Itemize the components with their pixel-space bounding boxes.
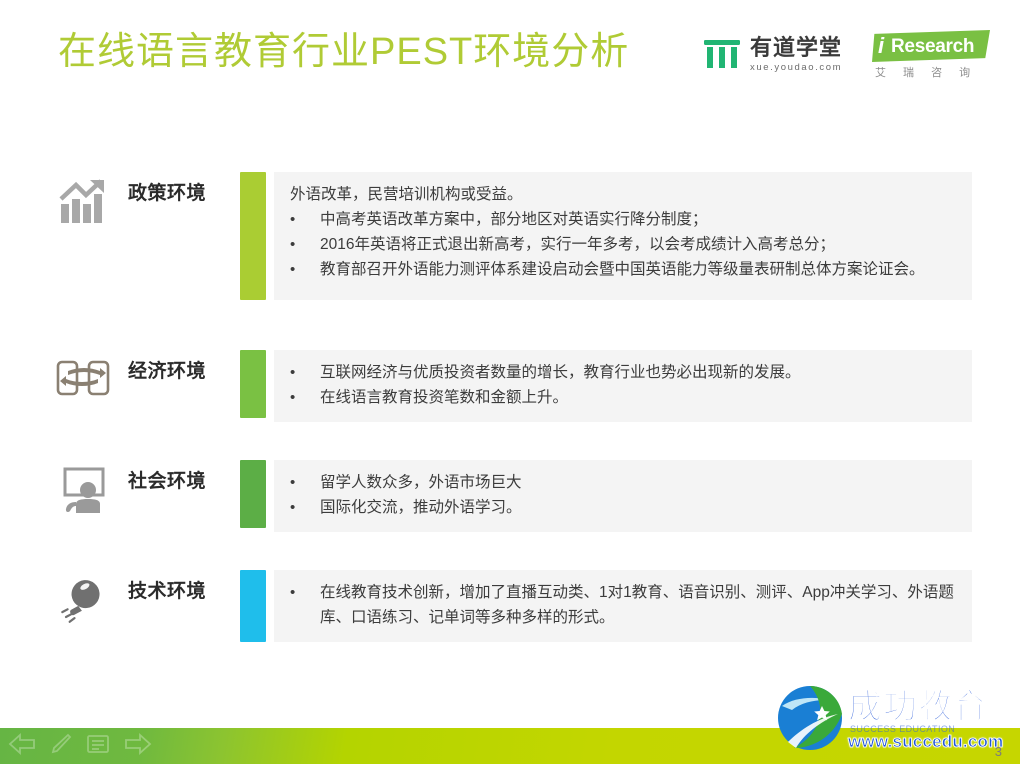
pest-panel-society: • 留学人数众多，外语市场巨大 • 国际化交流，推动外语学习。 bbox=[274, 460, 972, 532]
bullet-dot-icon: • bbox=[290, 207, 320, 232]
bullet-dot-icon: • bbox=[290, 385, 320, 410]
pest-row-label-economy: 经济环境 bbox=[114, 350, 240, 384]
pest-row-label-society: 社会环境 bbox=[114, 460, 240, 494]
pest-row-technology: 技术环境 • 在线教育技术创新，增加了直播互动类、1对1教育、语音识别、测评、A… bbox=[52, 570, 972, 642]
bullet-text: 在线教育技术创新，增加了直播互动类、1对1教育、语音识别、测评、App冲关学习、… bbox=[320, 580, 956, 630]
lightbulb-icon bbox=[52, 570, 114, 624]
bullet-text: 2016年英语将正式退出新高考，实行一年多考，以会考成绩计入高考总分； bbox=[320, 232, 956, 257]
pillar-temple-icon bbox=[703, 38, 741, 72]
page-title: 在线语言教育行业PEST环境分析 bbox=[58, 26, 629, 78]
bullet-dot-icon: • bbox=[290, 580, 320, 630]
logo-youdao-url: xue.youdao.com bbox=[750, 62, 842, 74]
accent-bar-technology bbox=[240, 570, 266, 642]
growth-bar-chart-icon bbox=[52, 172, 114, 226]
bullet-dot-icon: • bbox=[290, 257, 320, 282]
list-item: • 2016年英语将正式退出新高考，实行一年多考，以会考成绩计入高考总分； bbox=[290, 232, 956, 257]
accent-bar-economy bbox=[240, 350, 266, 418]
list-item: • 在线教育技术创新，增加了直播互动类、1对1教育、语音识别、测评、App冲关学… bbox=[290, 580, 956, 630]
list-item: • 教育部召开外语能力测评体系建设启动会暨中国英语能力等级量表研制总体方案论证会… bbox=[290, 257, 956, 282]
exchange-arrows-icon bbox=[52, 350, 114, 402]
bullet-dot-icon: • bbox=[290, 232, 320, 257]
iresearch-name-cn: 艾 瑞 咨 询 bbox=[872, 66, 992, 80]
bullet-dot-icon: • bbox=[290, 470, 320, 495]
bullet-text: 国际化交流，推动外语学习。 bbox=[320, 495, 956, 520]
bullet-text: 留学人数众多，外语市场巨大 bbox=[320, 470, 956, 495]
pest-row-economy: 经济环境 • 互联网经济与优质投资者数量的增长，教育行业也势必出现新的发展。 •… bbox=[52, 350, 972, 422]
iresearch-word: Research bbox=[891, 34, 974, 59]
logo-iresearch: i Research 艾 瑞 咨 询 bbox=[872, 30, 992, 80]
panel-lead-policy: 外语改革，民营培训机构或受益。 bbox=[290, 182, 956, 207]
pest-panel-economy: • 互联网经济与优质投资者数量的增长，教育行业也势必出现新的发展。 • 在线语言… bbox=[274, 350, 972, 422]
logo-succedu-name: 成功教育 bbox=[848, 688, 988, 726]
slide-header: 在线语言教育行业PEST环境分析 有道学堂 xue.youdao.com i R… bbox=[0, 0, 1020, 104]
logo-succedu-url: www.succedu.com bbox=[848, 732, 1003, 752]
list-item: • 互联网经济与优质投资者数量的增长，教育行业也势必出现新的发展。 bbox=[290, 360, 956, 385]
bullet-dot-icon: • bbox=[290, 495, 320, 520]
bullet-text: 互联网经济与优质投资者数量的增长，教育行业也势必出现新的发展。 bbox=[320, 360, 956, 385]
bullet-text: 教育部召开外语能力测评体系建设启动会暨中国英语能力等级量表研制总体方案论证会。 bbox=[320, 257, 956, 282]
pen-annotate-icon[interactable] bbox=[50, 733, 72, 760]
list-item: • 中高考英语改革方案中，部分地区对英语实行降分制度； bbox=[290, 207, 956, 232]
bullet-text: 中高考英语改革方案中，部分地区对英语实行降分制度； bbox=[320, 207, 956, 232]
pest-row-label-technology: 技术环境 bbox=[114, 570, 240, 604]
next-slide-arrow-icon[interactable] bbox=[124, 733, 152, 760]
bullet-dot-icon: • bbox=[290, 360, 320, 385]
bullet-text: 在线语言教育投资笔数和金额上升。 bbox=[320, 385, 956, 410]
slideshow-nav-controls[interactable] bbox=[8, 733, 152, 760]
list-item: • 留学人数众多，外语市场巨大 bbox=[290, 470, 956, 495]
accent-bar-society bbox=[240, 460, 266, 528]
list-item: • 国际化交流，推动外语学习。 bbox=[290, 495, 956, 520]
presenter-whiteboard-icon bbox=[52, 460, 114, 516]
iresearch-letter: i bbox=[878, 34, 884, 58]
swoosh-globe-icon bbox=[776, 684, 844, 752]
pest-row-society: 社会环境 • 留学人数众多，外语市场巨大 • 国际化交流，推动外语学习。 bbox=[52, 460, 972, 532]
pest-row-label-policy: 政策环境 bbox=[114, 172, 240, 206]
pest-panel-policy: 外语改革，民营培训机构或受益。 • 中高考英语改革方案中，部分地区对英语实行降分… bbox=[274, 172, 972, 300]
list-item: • 在线语言教育投资笔数和金额上升。 bbox=[290, 385, 956, 410]
iresearch-banner: i Research bbox=[872, 30, 990, 62]
logo-youdao-name: 有道学堂 bbox=[750, 36, 842, 60]
page-number: 3 bbox=[995, 744, 1002, 760]
logo-succedu: 成功教育 SUCCESS EDUCATION www.succedu.com 3 bbox=[772, 682, 1012, 758]
previous-slide-arrow-icon[interactable] bbox=[8, 733, 36, 760]
logo-youdao: 有道学堂 xue.youdao.com bbox=[703, 36, 842, 74]
accent-bar-policy bbox=[240, 172, 266, 300]
slide-menu-icon[interactable] bbox=[86, 733, 110, 760]
pest-panel-technology: • 在线教育技术创新，增加了直播互动类、1对1教育、语音识别、测评、App冲关学… bbox=[274, 570, 972, 642]
pest-row-policy: 政策环境 外语改革，民营培训机构或受益。 • 中高考英语改革方案中，部分地区对英… bbox=[52, 172, 972, 300]
